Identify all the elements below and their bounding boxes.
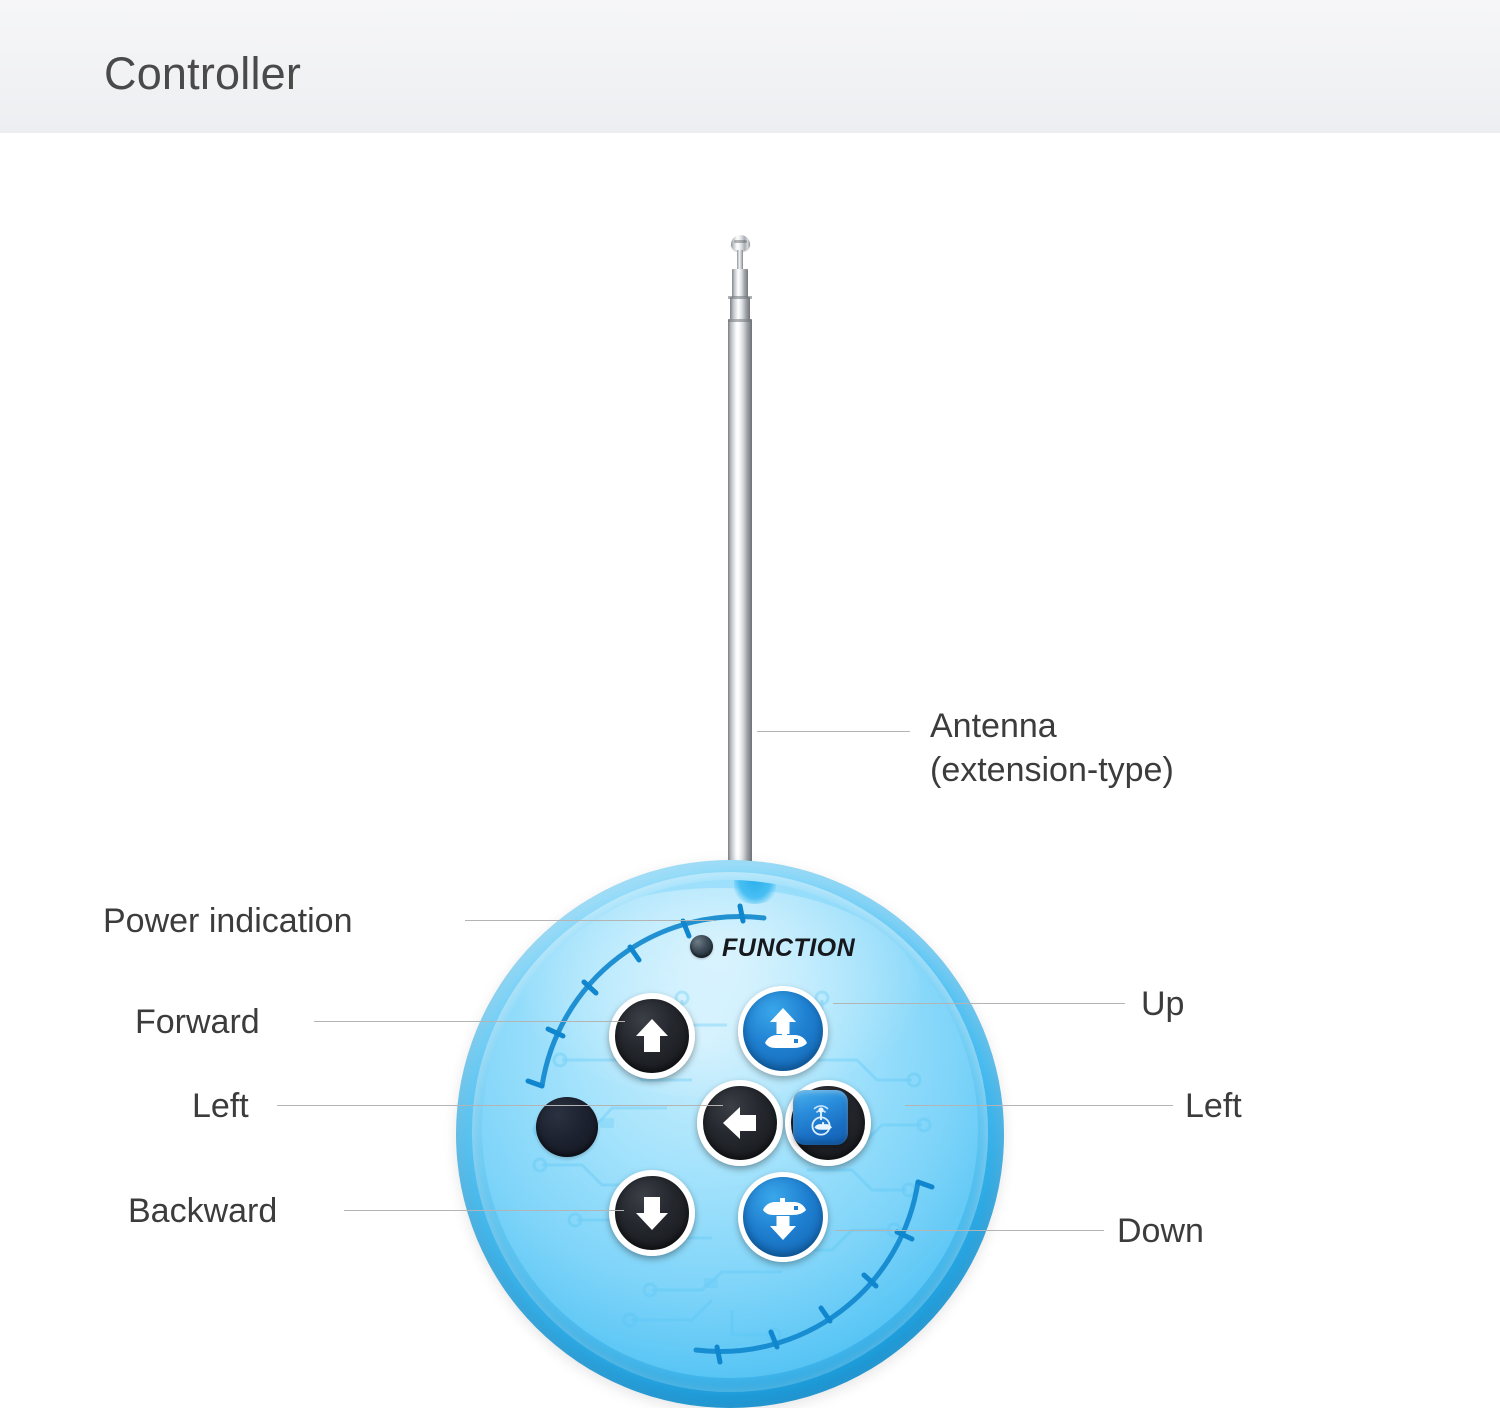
annotation-forward: Forward xyxy=(135,1002,260,1042)
signal-submarine-icon xyxy=(799,1096,843,1140)
annotation-antenna: Antenna (extension-type) xyxy=(930,704,1174,792)
forward-button[interactable] xyxy=(609,993,695,1079)
power-led-icon xyxy=(690,935,713,958)
function-label: FUNCTION xyxy=(722,934,855,963)
submarine-down-icon xyxy=(755,1189,811,1245)
annotation-right: Left xyxy=(1185,1086,1242,1126)
power-indication-dot-icon xyxy=(536,1097,598,1157)
annotation-power-indication: Power indication xyxy=(103,901,352,941)
dive-down-button[interactable] xyxy=(738,1172,828,1262)
annotation-down: Down xyxy=(1117,1211,1204,1251)
arrow-down-icon xyxy=(630,1191,674,1235)
leader-line-antenna xyxy=(757,731,910,732)
leader-line-backward xyxy=(344,1210,624,1211)
annotation-left: Left xyxy=(192,1086,249,1126)
page-title: Controller xyxy=(104,48,301,100)
leader-line-up xyxy=(833,1003,1125,1004)
surface-up-button[interactable] xyxy=(738,986,828,1076)
leader-line-left xyxy=(277,1105,723,1106)
page-header: Controller xyxy=(0,0,1500,133)
leader-line-power-indication xyxy=(465,920,714,921)
antenna-tip-knob-icon xyxy=(731,235,750,251)
annotation-up: Up xyxy=(1141,984,1184,1024)
backward-button[interactable] xyxy=(609,1170,695,1256)
leader-line-down xyxy=(835,1230,1104,1231)
controller-face: FUNCTION xyxy=(482,880,978,1378)
function-center-button[interactable] xyxy=(793,1090,848,1145)
submarine-up-icon xyxy=(755,1003,811,1059)
product-diagram-stage: FUNCTION xyxy=(0,133,1500,1399)
controller-body: FUNCTION xyxy=(456,860,1004,1408)
annotation-backward: Backward xyxy=(128,1191,277,1231)
arrow-left-icon xyxy=(718,1101,762,1145)
annotation-antenna-line2: (extension-type) xyxy=(930,748,1174,792)
left-button[interactable] xyxy=(697,1080,783,1166)
antenna-joint-ring-2 xyxy=(728,319,752,322)
antenna-joint-ring-1 xyxy=(728,296,752,299)
arrow-up-icon xyxy=(630,1014,674,1058)
leader-line-forward xyxy=(314,1021,625,1022)
annotation-antenna-line1: Antenna xyxy=(930,704,1174,748)
leader-line-right xyxy=(905,1105,1173,1106)
antenna-extension-type xyxy=(718,235,762,965)
